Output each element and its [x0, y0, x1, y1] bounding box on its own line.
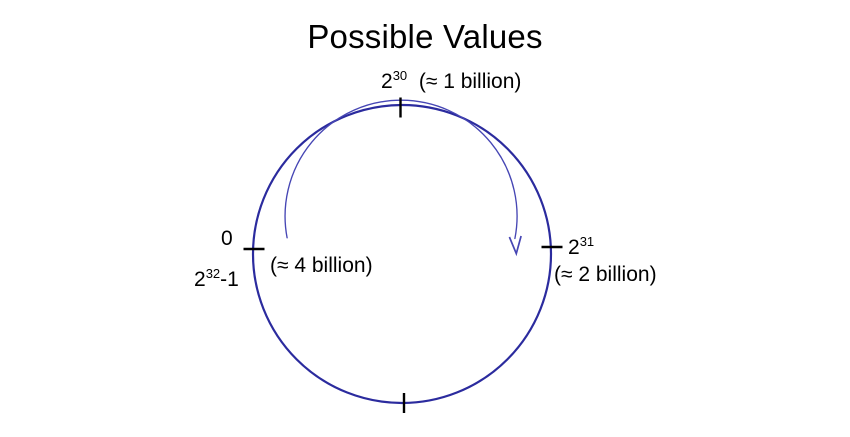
label-two-pow-32-minus-1: 232-1: [194, 268, 239, 292]
label-two-pow-31: 231: [568, 236, 594, 260]
label-two-billion-approx: (≈ 2 billion): [554, 263, 657, 287]
label-two-pow-31-exponent: 31: [580, 234, 594, 249]
label-zero: 0: [221, 227, 233, 251]
label-two-pow-30-exponent: 30: [393, 68, 407, 83]
label-four-billion-approx: (≈ 4 billion): [270, 254, 373, 278]
label-two-pow-30-approx: (≈ 1 billion): [419, 70, 522, 93]
label-two-pow-32-base: 2: [194, 268, 206, 291]
label-two-pow-32-exponent: 32: [206, 266, 220, 281]
slide-canvas: Possible Values 230 (≈ 1 billion) 231 (≈…: [0, 0, 850, 437]
clockwise-sweep-arc: [285, 100, 517, 238]
number-circle-diagram: [0, 0, 850, 437]
label-two-pow-32-suffix: -1: [220, 268, 239, 291]
label-two-pow-31-base: 2: [568, 236, 580, 259]
label-two-pow-30-base: 2: [381, 70, 393, 93]
label-two-pow-30: 230 (≈ 1 billion): [381, 70, 521, 94]
